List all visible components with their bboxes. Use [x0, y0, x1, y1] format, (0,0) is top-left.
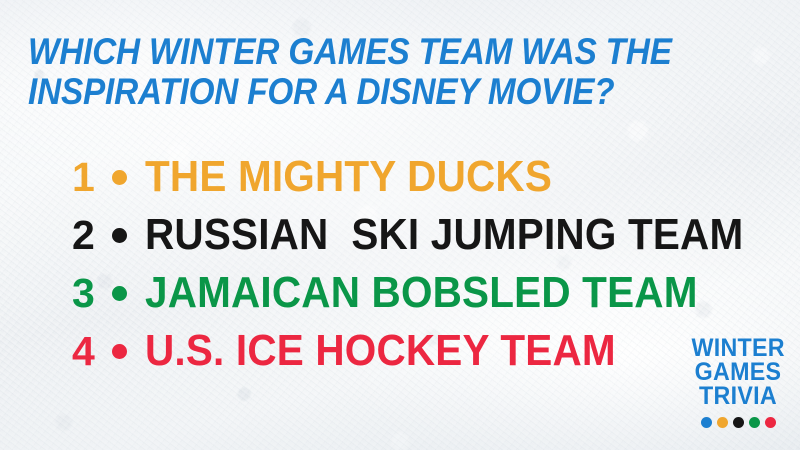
logo-dot-black [733, 417, 744, 428]
answer-label: U.S. ICE HOCKEY TEAM [145, 329, 616, 373]
answer-bullet-icon [112, 286, 127, 301]
answer-option-4[interactable]: 4 U.S. ICE HOCKEY TEAM [72, 322, 795, 380]
answer-bullet-icon [112, 344, 127, 359]
answer-option-2[interactable]: 2 RUSSIAN SKI JUMPING TEAM [72, 206, 795, 264]
winter-games-trivia-logo: WINTER GAMES TRIVIA [688, 336, 788, 428]
question-line-2: INSPIRATION FOR A DISNEY MOVIE? [28, 72, 658, 112]
answer-bullet-icon [112, 228, 127, 243]
logo-line-winter: WINTER [692, 336, 785, 360]
logo-line-games: GAMES [692, 360, 785, 384]
question-block: WHICH WINTER GAMES TEAM WAS THE INSPIRAT… [28, 32, 728, 112]
logo-dot-yellow [717, 417, 728, 428]
logo-dot-red [765, 417, 776, 428]
question-line-1: WHICH WINTER GAMES TEAM WAS THE [28, 32, 658, 72]
answer-number: 3 [72, 273, 98, 314]
answer-label: JAMAICAN BOBSLED TEAM [145, 271, 698, 315]
answer-label: RUSSIAN SKI JUMPING TEAM [145, 213, 743, 257]
logo-dot-green [749, 417, 760, 428]
answer-number: 4 [72, 331, 98, 372]
logo-olympic-dots [688, 417, 788, 428]
answer-number: 1 [72, 157, 98, 198]
answer-bullet-icon [112, 170, 127, 185]
trivia-slide: WHICH WINTER GAMES TEAM WAS THE INSPIRAT… [0, 0, 800, 450]
logo-dot-blue [701, 417, 712, 428]
answer-number: 2 [72, 215, 98, 256]
answer-option-1[interactable]: 1 THE MIGHTY DUCKS [72, 148, 795, 206]
answer-label: THE MIGHTY DUCKS [145, 155, 552, 199]
answer-option-3[interactable]: 3 JAMAICAN BOBSLED TEAM [72, 264, 795, 322]
logo-line-trivia: TRIVIA [692, 384, 785, 408]
answer-list: 1 THE MIGHTY DUCKS 2 RUSSIAN SKI JUMPING… [72, 148, 795, 380]
